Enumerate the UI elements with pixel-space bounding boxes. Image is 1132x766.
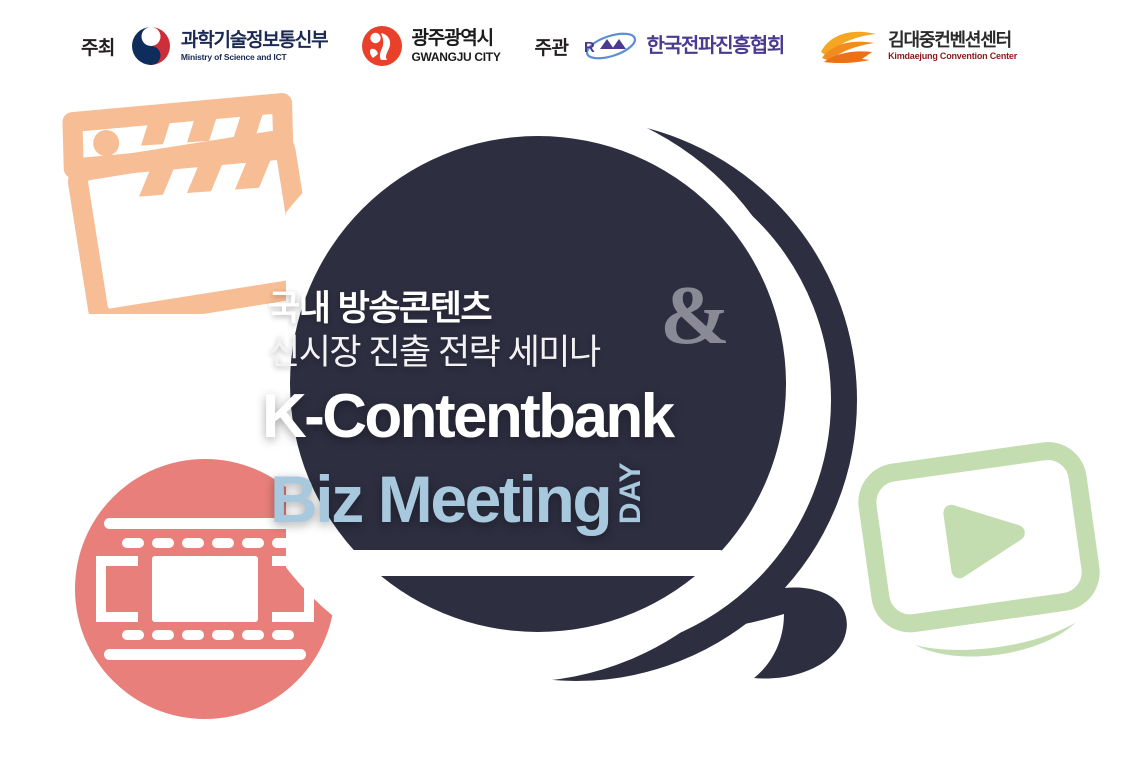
rapa-text: 한국전파진흥협회 (647, 36, 785, 56)
sponsor-bar: 주최 과학기술정보통신부 Ministry of Science and ICT (0, 0, 1132, 92)
host-group: 주최 과학기술정보통신부 Ministry of Science and ICT (81, 24, 535, 68)
sponsor-logo-kdj: 김대중컨벤션센터 Kimdaejung Convention Center (818, 26, 1017, 66)
organizer-group: 주관 R 한국전파진흥협회 (535, 26, 1052, 66)
gwangju-name-en: GWANGJU CITY (411, 51, 500, 63)
rapa-name-ko: 한국전파진흥협회 (647, 36, 785, 56)
kdj-swoosh-icon (818, 26, 880, 66)
host-label: 주최 (81, 33, 115, 60)
msit-text: 과학기술정보통신부 Ministry of Science and ICT (181, 31, 328, 62)
gwangju-figure-icon (361, 25, 403, 67)
msit-name-ko: 과학기술정보통신부 (181, 31, 328, 50)
taegeuk-icon (129, 24, 173, 68)
sponsor-logo-rapa: R 한국전파진흥협회 (583, 29, 785, 63)
kdj-name-ko: 김대중컨벤션센터 (888, 31, 1017, 49)
kdj-text: 김대중컨벤션센터 Kimdaejung Convention Center (888, 31, 1017, 61)
msit-name-en: Ministry of Science and ICT (181, 53, 328, 62)
sponsor-logo-gwangju: 광주광역시 GWANGJU CITY (361, 25, 500, 67)
organizer-label: 주관 (535, 33, 569, 60)
svg-text:R: R (584, 39, 595, 56)
sponsor-logo-msit: 과학기술정보통신부 Ministry of Science and ICT (129, 24, 328, 68)
speech-bubble-icon (286, 122, 906, 702)
gwangju-name-ko: 광주광역시 (411, 29, 500, 48)
gwangju-text: 광주광역시 GWANGJU CITY (411, 29, 500, 63)
poster-canvas: 주최 과학기술정보통신부 Ministry of Science and ICT (0, 0, 1132, 766)
kdj-name-en: Kimdaejung Convention Center (888, 52, 1017, 61)
rapa-orbit-icon: R (583, 29, 639, 63)
